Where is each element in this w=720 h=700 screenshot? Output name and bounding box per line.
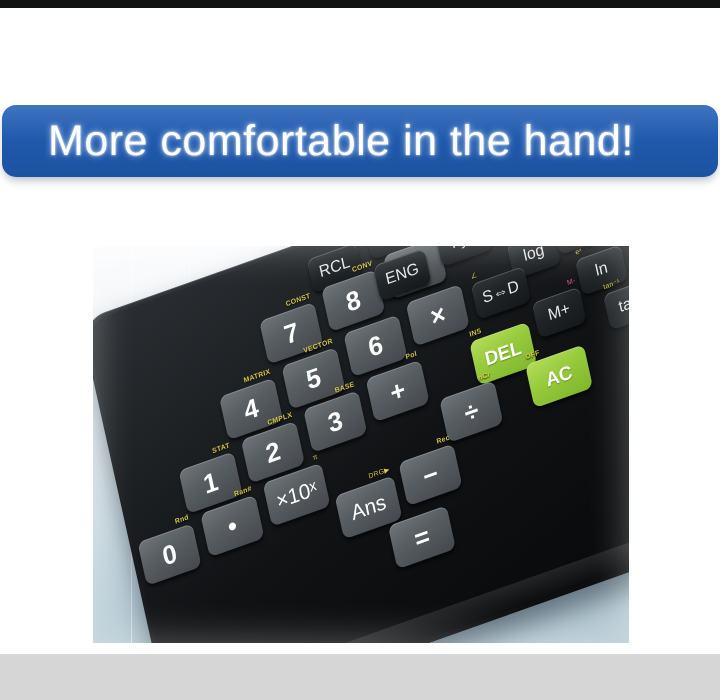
calc-key-shift-label: STAT [212,442,231,455]
calculator-device: STORCL←)●●●√xx⁻¹MODE SETUPCONST7CONV8CLR… [93,246,629,643]
calc-key-shift-label: π [312,454,318,463]
top-letterbox-bar [0,0,720,8]
calc-key-label: 2 [263,437,282,467]
calc-key-label: Ans [349,491,388,524]
calc-key-label: − [420,460,440,491]
calc-key-label: 3 [326,406,345,436]
calc-key[interactable]: M-M+ [532,287,587,339]
calculator-keypad: STORCL←)●●●√xx⁻¹MODE SETUPCONST7CONV8CLR… [93,246,629,643]
calc-key[interactable]: tan⁻¹tan [603,279,629,330]
calc-key-label: ENG [384,261,420,288]
calc-key-label: tan [617,293,629,316]
calc-key-label: DEL [483,338,523,369]
calc-key-label: + [388,376,408,407]
calc-key-label: • [225,512,239,541]
calc-key-shift-label: Pol [405,351,418,362]
calc-key-label: log [522,246,546,265]
calc-key-label: × [428,300,448,331]
calc-key-label: AC [544,362,574,390]
calc-key-label: hyp [450,246,478,252]
calc-key-label: 1 [201,468,220,498]
calc-key-label: ×10ˣ [274,477,319,512]
calc-key-shift-label: CONST [285,293,311,309]
calc-key-label: 0 [160,539,179,569]
product-photo: STORCL←)●●●√xx⁻¹MODE SETUPCONST7CONV8CLR… [93,246,629,643]
calc-key-label: 4 [242,394,261,424]
calc-key-label: RCL [318,255,352,281]
headline-banner: More comfortable in the hand! [2,105,718,177]
bottom-strip [0,654,720,700]
calc-key-shift-label: MATRIX [243,368,271,384]
calc-key[interactable]: ∠S⇔D [471,266,532,320]
calc-key[interactable]: Rnd0 [137,523,201,586]
calc-key-label: ln [594,260,609,280]
calc-key-shift-label: eˣ [575,248,583,257]
calc-key-label: 6 [366,331,385,361]
calc-key[interactable]: × [406,284,470,347]
calc-key-shift-label: Rec [436,434,450,445]
calc-key-shift-label: M- [567,277,577,287]
calc-key[interactable]: Rec− [398,444,462,507]
headline-text: More comfortable in the hand! [48,117,634,166]
calc-key-label: M+ [547,301,572,324]
calc-key[interactable]: OFFAC [525,344,593,408]
calc-key-label: 5 [304,363,323,393]
calc-key-label: = [412,522,432,553]
slide-stage: More comfortable in the hand! STORCL←)●●… [0,8,720,654]
calc-key-label: 7 [282,318,301,348]
calc-key[interactable]: Abshyp [434,246,493,267]
calc-key-label: S⇔D [481,279,521,308]
calc-key-label: 8 [344,285,363,315]
calc-key-shift-label: DRG▶ [368,466,390,480]
calc-key-shift-label: ∠ [470,272,478,281]
calc-key-label: ÷ [462,396,481,426]
calc-key-shift-label: Rnd [174,514,189,526]
calc-key-shift-label: INS [469,328,482,339]
